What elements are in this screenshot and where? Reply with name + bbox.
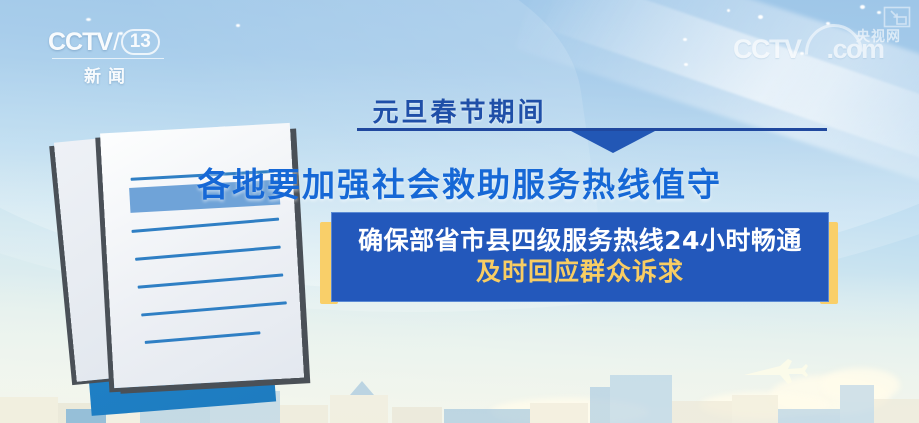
document-line — [138, 273, 284, 288]
highlight-box: 确保部省市县四级服务热线24小时畅通 及时回应群众诉求 — [331, 212, 829, 302]
sparkle-icon — [683, 38, 687, 41]
page-title: 各地要加强社会救助服务热线值守 — [0, 158, 919, 206]
cctv13-logo: CCTV/13 新闻 — [48, 28, 168, 88]
document-line — [141, 301, 287, 316]
broadcast-graphic: CCTV/13 新闻 CCTV.com 央视网 元旦春节期间 各地要加强社会救助… — [0, 0, 919, 423]
sparkle-icon — [684, 63, 688, 66]
document-line — [135, 246, 281, 261]
sparkle-icon — [236, 24, 240, 27]
cctv-com-watermark: CCTV.com 央视网 — [733, 34, 903, 68]
cctv13-logo-name: CCTV — [48, 28, 112, 56]
document-line — [145, 331, 261, 344]
highlight-line-2: 及时回应群众诉求 — [476, 258, 684, 287]
cctv13-logo-rule — [52, 58, 164, 59]
document-line — [131, 218, 279, 233]
sparkle-icon — [758, 15, 763, 19]
kicker-text: 元旦春节期间 — [0, 92, 919, 129]
sparkle-icon — [86, 18, 91, 21]
sparkle-icon — [727, 9, 730, 12]
cctv13-logo-separator: / — [113, 29, 120, 56]
restore-down-icon[interactable] — [883, 6, 911, 28]
cctv13-logo-sublabel: 新闻 — [48, 62, 168, 87]
cctv13-logo-number: 13 — [121, 29, 160, 55]
chevron-down-icon — [571, 131, 655, 153]
sparkle-icon — [877, 11, 881, 14]
watermark-main-text: CCTV — [733, 34, 801, 64]
highlight-line-1: 确保部省市县四级服务热线24小时畅通 — [358, 227, 802, 255]
sparkle-icon — [860, 5, 865, 9]
watermark-cn-text: 央视网 — [856, 26, 901, 46]
